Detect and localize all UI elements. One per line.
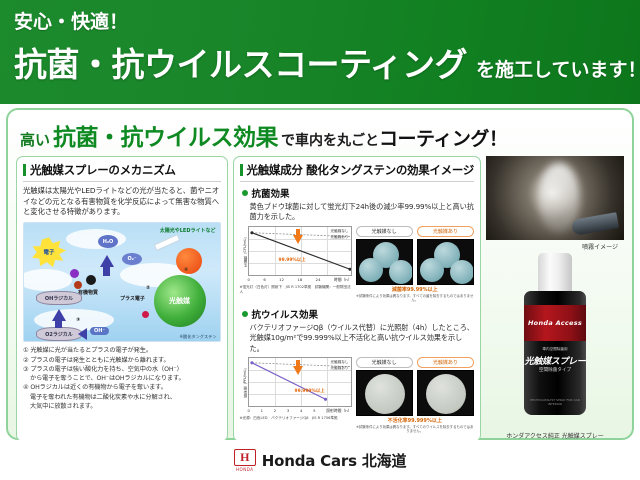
- step-3-label: ③: [76, 317, 80, 323]
- note-item: ① 光触媒に光が当たるとプラスの電子が発生。: [23, 346, 221, 355]
- product-bottle: Honda Access 車内空間除菌用 光触媒スプレー 空間除菌タイプ PHO…: [486, 253, 624, 429]
- particle-dot: [74, 281, 82, 289]
- bottle-product-name: 光触媒スプレー: [524, 354, 586, 367]
- header-subtitle: 安心・快適！: [14, 12, 640, 33]
- petri-dish: [389, 260, 413, 284]
- oh-radical-label: OHラジカル: [36, 291, 82, 305]
- photo-head-row: 光触媒なし 光触媒あり: [356, 226, 474, 237]
- oh-minus-chip: OH⁻: [90, 327, 109, 335]
- antivirus-results: 99.999%以上 光触媒なし 光触媒あり 感染価（PFU/mL） 0 1 2 …: [240, 357, 474, 434]
- up-arrow-icon: [100, 255, 114, 267]
- antivirus-text: バクテリオファージQβ（ウイルス代替）に光照射（4h）したところ、光触媒10g/…: [240, 323, 474, 354]
- petri-photo-control: [356, 239, 413, 285]
- bottle-fine-print: PHOTOCATALYST SPRAY FOR CAR INTERIOR: [524, 398, 586, 406]
- photo-result-caption: 不活化率99.999%以上: [356, 417, 474, 424]
- note-item: ② プラスの電子は発生とともに光触媒から離れます。: [23, 356, 221, 365]
- product-column: 噴霧イメージ Honda Access 車内空間除菌用 光触媒スプレー 空間除菌…: [486, 156, 624, 442]
- x-tick: 24: [316, 277, 321, 283]
- honda-logo-mark: H: [240, 451, 249, 463]
- note-item: から電子を奪うことで、OH⁻はOHラジカルになります。: [23, 374, 221, 383]
- petri-dish: [359, 258, 383, 282]
- panel-mechanism: 光触媒スプレーのメカニズム 光触媒は太陽光やLEDライトなどの光が当たると、菌や…: [16, 156, 228, 442]
- x-tick: 5: [313, 408, 315, 414]
- chart-footnote: ※光源：白色LED バクテリオファージQβ JIS R 1756準拠: [240, 416, 352, 421]
- bottle-cap: [538, 253, 572, 293]
- mechanism-diagram: 電子 太陽光やLEDライトなど H₂O O₂⁻ 有機物質 OHラジカル O2ラジ…: [23, 222, 221, 342]
- note-item: 大気中に放散されます。: [23, 402, 221, 411]
- petri-dish: [426, 374, 466, 414]
- antibacterial-photos: 光触媒なし 光触媒あり: [356, 226, 474, 303]
- photo-result-caption: 減菌率99.99%以上: [356, 286, 474, 293]
- tagline-trail: コーティング！: [379, 124, 507, 151]
- sun-burst-icon: 電子: [32, 237, 66, 267]
- antibacterial-text: 黄色ブドウ球菌に対して蛍光灯下24h後の減少率99.99%以上と高い抗菌力を示し…: [240, 202, 474, 223]
- x-tick: 6: [263, 277, 265, 283]
- o2-radical-label: O2ラジカル: [36, 327, 82, 341]
- bottle-body: Honda Access 車内空間除菌用 光触媒スプレー 空間除菌タイプ PHO…: [524, 291, 586, 415]
- antibacterial-heading: 抗菌効果: [252, 186, 290, 200]
- mechanism-notes: ① 光触媒に光が当たるとプラスの電子が発生。 ② プラスの電子は発生とともに光触…: [23, 346, 221, 411]
- antivirus-heading-row: 抗ウイルス効果: [242, 307, 474, 321]
- chart-y-axis-label: 感染価（PFU/mL）: [242, 366, 247, 398]
- x-tick: 0: [248, 277, 250, 283]
- x-tick: 2: [274, 408, 276, 414]
- dealer-name: Honda Cars 北海道: [262, 450, 407, 471]
- decline-arrow-icon: [293, 235, 303, 244]
- electron-label: 電子: [32, 237, 66, 267]
- particle-dot: [86, 275, 96, 285]
- photocatalyst-ball: 光触媒: [154, 275, 206, 327]
- content-card: 高い 抗菌・抗ウイルス効果 で車内を丸ごと コーティング！ 光触媒スプレーのメカ…: [6, 108, 634, 440]
- bottle-brand: Honda Access: [528, 319, 582, 327]
- up-arrow-stem: [55, 319, 62, 328]
- chart-plot-area: 99.99%以上 光触媒なし 光触媒あり 生菌数（CFU/mL）: [248, 226, 352, 276]
- antivirus-photos: 光触媒なし 光触媒あり 不活化率99.999%以上 ※試験: [356, 357, 474, 434]
- header-title-suffix: を施工しています！: [476, 55, 640, 82]
- bottle-brand-band: Honda Access: [524, 305, 586, 341]
- chart-legend-b: 光触媒あり: [331, 366, 349, 371]
- x-tick: 18: [297, 277, 302, 283]
- x-tick: 0: [248, 408, 250, 414]
- x-tick: 3: [287, 408, 289, 414]
- plus-electron-label: プラス電子: [120, 295, 145, 302]
- chart-y-axis-label: 生菌数（CFU/mL）: [242, 235, 247, 267]
- poster-root: 安心・快適！ 抗菌・抗ウイルスコーティング を施工しています！ 高い 抗菌・抗ウ…: [0, 0, 640, 480]
- bullet-icon: [242, 190, 248, 196]
- note-item: 電子を奪われた有機物は二酸化炭素や水に分解され、: [23, 393, 221, 402]
- honda-h-icon: H: [234, 449, 256, 466]
- particle-dot: [142, 311, 149, 318]
- footer-bar: H HONDA Honda Cars 北海道: [0, 440, 640, 480]
- antibacterial-chart: 99.99%以上 光触媒なし 光触媒あり 生菌数（CFU/mL） 0 6 12 …: [240, 226, 352, 294]
- header-title: 抗菌・抗ウイルスコーティング: [14, 38, 467, 86]
- chart-legend-a: 光触媒なし: [331, 229, 349, 234]
- mechanism-title: 光触媒スプレーのメカニズム: [30, 162, 176, 178]
- header-banner: 安心・快適！ 抗菌・抗ウイルスコーティング を施工しています！: [0, 0, 640, 104]
- effects-title-row: 光触媒成分 酸化タングステンの効果イメージ: [240, 162, 474, 182]
- step-1-label: ①: [184, 267, 188, 273]
- honda-logo-block: H HONDA: [234, 449, 256, 472]
- antivirus-heading: 抗ウイルス効果: [252, 307, 319, 321]
- honda-logo-wordmark: HONDA: [234, 467, 256, 472]
- photo-head-control: 光触媒なし: [356, 226, 413, 237]
- petri-dish: [365, 374, 405, 414]
- panel-columns: 光触媒スプレーのメカニズム 光触媒は太陽光やLEDライトなどの光が当たると、菌や…: [14, 156, 626, 442]
- spray-photo-caption: 噴霧イメージ: [486, 240, 624, 251]
- chart-footnote: ※蛍光灯（白色灯）照射下 JIS R 1702準拠 試験機関：一般財団法人: [240, 285, 352, 294]
- petri-dish: [420, 258, 444, 282]
- step-2-label: ②: [146, 285, 150, 291]
- chart-annotation: 99.99%以上: [279, 257, 306, 263]
- up-arrow-stem: [103, 267, 110, 276]
- antivirus-chart: 99.999%以上 光触媒なし 光触媒あり 感染価（PFU/mL） 0 1 2 …: [240, 357, 352, 421]
- photo-head-treated: 光触媒あり: [417, 357, 474, 368]
- photo-row: [356, 239, 474, 285]
- bottle-caption: ホンダアクセス純正 光触媒スプレー: [486, 431, 624, 440]
- photo-row: [356, 370, 474, 416]
- particle-dot: [70, 269, 79, 278]
- tagline: 高い 抗菌・抗ウイルス効果 で車内を丸ごと コーティング！: [14, 116, 626, 156]
- chart-x-axis-label: 時間（h）: [334, 277, 352, 283]
- photo-head-row: 光触媒なし 光触媒あり: [356, 357, 474, 368]
- petri-photo-treated: [417, 239, 474, 285]
- chart-x-ticks: 0 1 2 3 4 5 照射時間（h）: [248, 408, 352, 414]
- bottle-subtitle: 車内空間除菌用: [524, 347, 586, 352]
- diagram-caption: ※酸化タングステン: [180, 334, 217, 340]
- bottle-type: 空間除菌タイプ: [524, 367, 586, 373]
- chart-plot-area: 99.999%以上 光触媒なし 光触媒あり 感染価（PFU/mL）: [248, 357, 352, 407]
- chart-legend-b: 光触媒あり: [331, 235, 349, 240]
- photo-disclaimer: ※試験条件により効果は異なります。すべてのウイルスを除去するものではありません。: [356, 425, 474, 434]
- tagline-emphasis: 抗菌・抗ウイルス効果: [53, 118, 278, 152]
- tagline-mid: で車内を丸ごと: [281, 130, 379, 150]
- x-tick: 4: [300, 408, 302, 414]
- x-tick: 12: [279, 277, 284, 283]
- left-arrow-icon: [78, 328, 87, 340]
- chart-x-ticks: 0 6 12 18 24 時間（h）: [248, 277, 352, 283]
- decline-arrow-icon: [293, 366, 303, 375]
- mechanism-body: 光触媒は太陽光やLEDライトなどの光が当たると、菌やニオイなどの元となる有害物質…: [23, 186, 221, 218]
- chart-x-axis-label: 照射時間（h）: [326, 408, 351, 414]
- chart-annotation: 99.999%以上: [295, 388, 325, 394]
- spray-photo: [486, 156, 624, 240]
- tagline-lead: 高い: [20, 129, 50, 150]
- petri-dish: [450, 260, 474, 284]
- title-accent-bar: [240, 164, 243, 176]
- title-accent-bar: [23, 164, 26, 176]
- chart-legend-a: 光触媒なし: [331, 360, 349, 365]
- cloud-shape: [23, 269, 72, 291]
- note-item: ③ プラスの電子は強い酸化力を持ち、空気中の水（OH⁻）: [23, 365, 221, 374]
- panel-effects: 光触媒成分 酸化タングステンの効果イメージ 抗菌効果 黄色ブドウ球菌に対して蛍光…: [233, 156, 481, 442]
- light-source-label: 太陽光やLEDライトなど: [160, 227, 216, 234]
- photo-disclaimer: ※試験条件により効果は異なります。すべての菌を除去するものではありません。: [356, 294, 474, 303]
- effects-title: 光触媒成分 酸化タングステンの効果イメージ: [247, 162, 474, 178]
- mechanism-title-row: 光触媒スプレーのメカニズム: [23, 162, 221, 182]
- plaque-photo-treated: [417, 370, 474, 416]
- note-item: ④ OHラジカルは近くの有機物から電子を奪います。: [23, 383, 221, 392]
- header-main-row: 抗菌・抗ウイルスコーティング を施工しています！: [14, 38, 640, 86]
- led-light-icon: [153, 234, 180, 251]
- antibacterial-results: 99.99%以上 光触媒なし 光触媒あり 生菌数（CFU/mL） 0 6 12 …: [240, 226, 474, 303]
- bullet-icon: [242, 311, 248, 317]
- spray-nozzle: [571, 212, 619, 236]
- antibacterial-heading-row: 抗菌効果: [242, 186, 474, 200]
- plaque-photo-control: [356, 370, 413, 416]
- photo-head-treated: 光触媒あり: [417, 226, 474, 237]
- x-tick: 1: [261, 408, 263, 414]
- photo-head-control: 光触媒なし: [356, 357, 413, 368]
- sun-icon: [176, 248, 202, 274]
